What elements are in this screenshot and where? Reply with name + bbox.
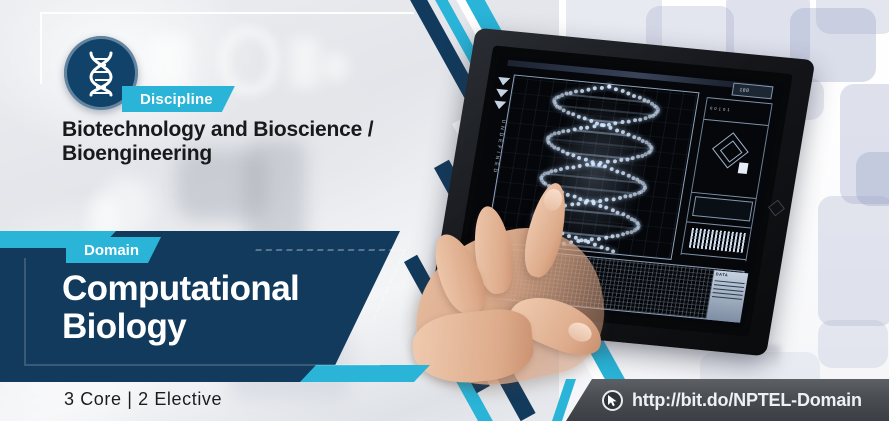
thumbnail bbox=[566, 319, 595, 345]
background-rounded-rect bbox=[816, 0, 889, 34]
mouse-cursor-icon bbox=[602, 390, 623, 411]
screen-corner-badge: 188 bbox=[731, 83, 773, 100]
domain-tag-label: Domain bbox=[84, 242, 139, 259]
discipline-tag-label: Discipline bbox=[140, 91, 213, 108]
url-text[interactable]: http://bit.do/NPTEL-Domain bbox=[632, 390, 862, 411]
background-blob-a bbox=[150, 34, 190, 90]
domain-tag: Domain bbox=[66, 237, 161, 263]
decorative-frame-top bbox=[40, 12, 414, 14]
decorative-frame-left bbox=[40, 12, 42, 84]
url-bar[interactable]: http://bit.do/NPTEL-Domain bbox=[566, 379, 889, 421]
hand-touching-screen bbox=[413, 162, 663, 382]
background-blob-c bbox=[322, 52, 348, 82]
discipline-tag: Discipline bbox=[122, 86, 235, 112]
background-blob-b bbox=[290, 38, 320, 88]
tablet-with-hand-photo: UNDEFINED 188 bbox=[441, 42, 861, 372]
domain-title-line2: Biology bbox=[62, 308, 392, 346]
course-count: 3 Core | 2 Elective bbox=[64, 389, 222, 410]
domain-panel-cyan-accent-bottom bbox=[300, 365, 430, 382]
screen-data-panel: DATA bbox=[706, 270, 748, 323]
domain-title-line1: Computational bbox=[62, 270, 392, 308]
domain-title: Computational Biology bbox=[62, 270, 392, 346]
discipline-title: Biotechnology and Bioscience / Bioengine… bbox=[62, 118, 392, 166]
nptel-domain-banner: UNDEFINED 188 bbox=[0, 0, 889, 421]
background-blob-ring bbox=[218, 26, 280, 96]
fingernail bbox=[542, 187, 564, 212]
screen-hud-marker bbox=[738, 162, 749, 174]
